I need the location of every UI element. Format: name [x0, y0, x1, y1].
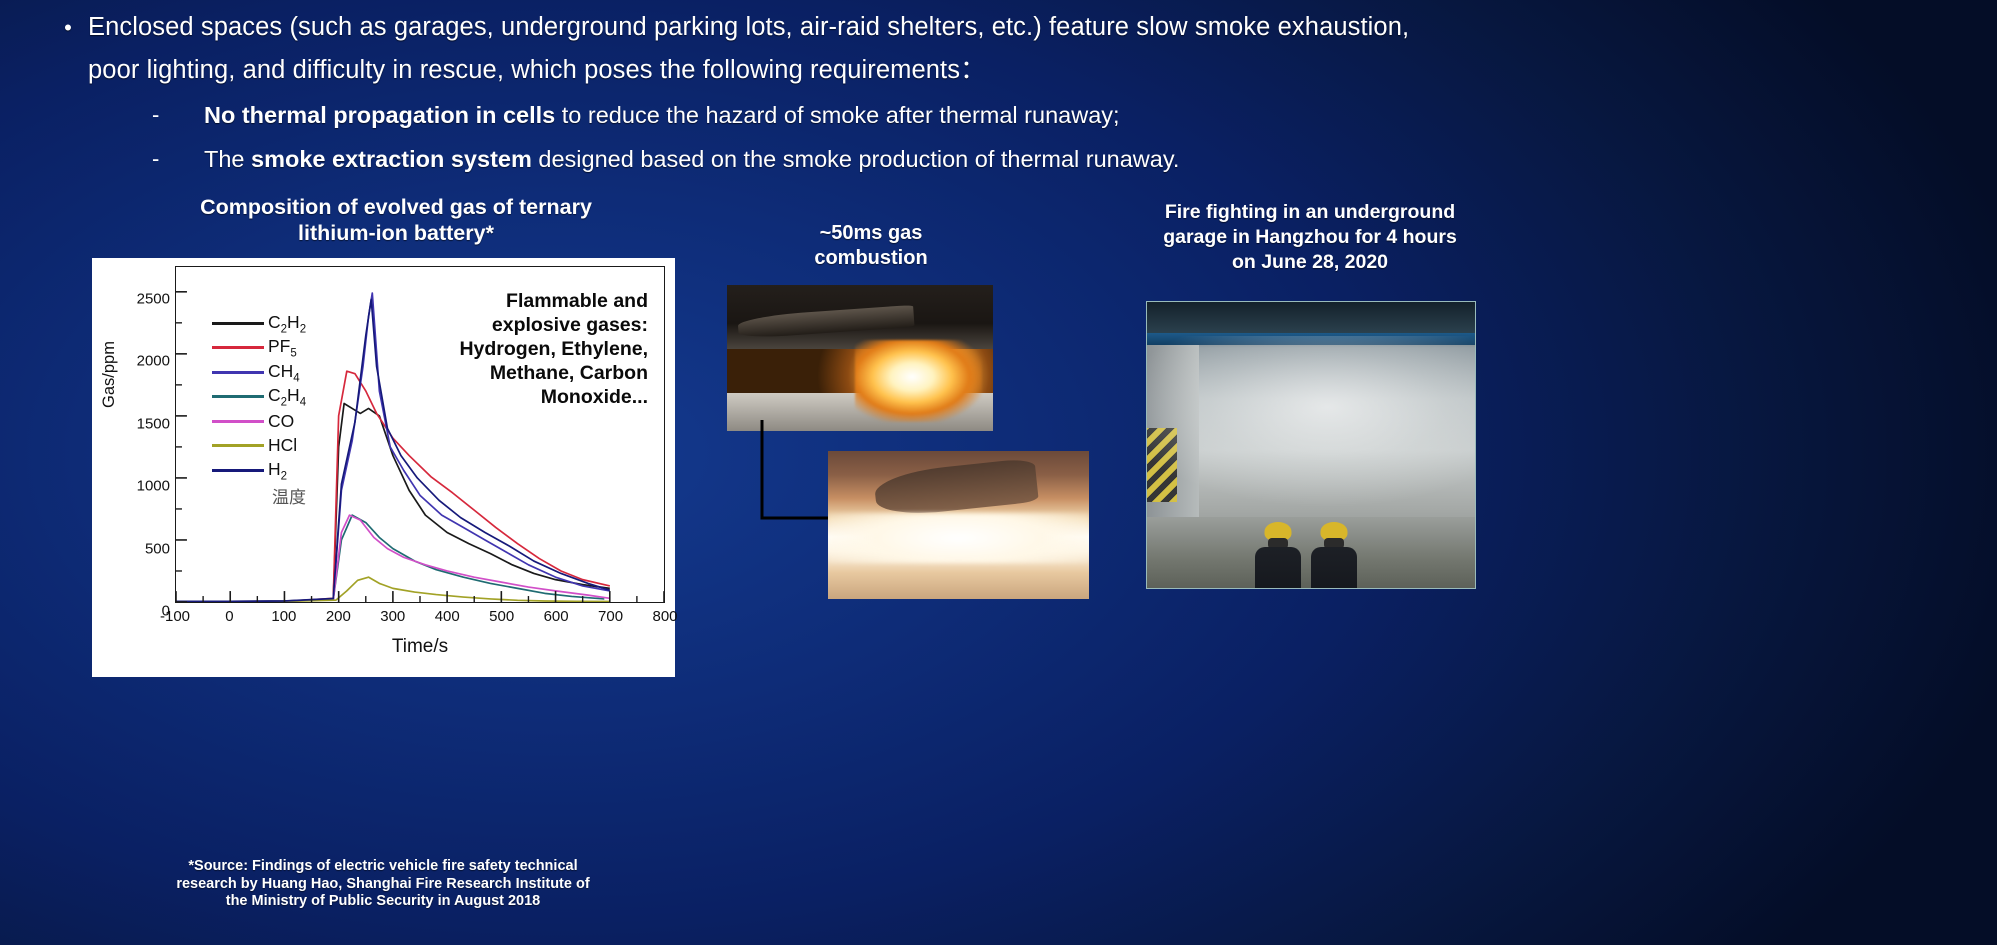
gas-combustion-photo-top — [727, 285, 993, 431]
chart-panel: Gas/ppm 05001000150020002500 C2H2PF5CH4C… — [92, 258, 675, 677]
sub-bullet-2-rest: designed based on the smoke production o… — [532, 146, 1180, 172]
legend-swatch-line — [212, 371, 264, 374]
torso — [1255, 547, 1301, 589]
x-tick-600: 600 — [544, 608, 569, 625]
bullet-list: • Enclosed spaces (such as garages, unde… — [48, 6, 1478, 180]
middle-caption: ~50ms gas combustion — [760, 221, 982, 271]
legend-label: C2H4 — [268, 385, 306, 409]
y-tick-1500: 1500 — [126, 415, 170, 432]
torso — [1311, 547, 1357, 589]
right-caption-line3: on June 28, 2020 — [1140, 250, 1480, 275]
flame-icon — [855, 340, 983, 422]
legend-item-HCl: HCl — [212, 434, 354, 459]
legend-item-CH4: CH4 — [212, 360, 354, 385]
sub-bullet-1-rest: to reduce the hazard of smoke after ther… — [555, 102, 1119, 128]
bullet-main-line2-text: poor lighting, and difficulty in rescue,… — [88, 49, 1478, 92]
bullet-main-line2: poor lighting, and difficulty in rescue,… — [48, 49, 1478, 92]
x-tick-200: 200 — [326, 608, 351, 625]
legend-label: PF5 — [268, 336, 297, 360]
legend-label: H2 — [268, 459, 287, 483]
chart-source-note: *Source: Findings of electric vehicle fi… — [148, 858, 618, 911]
source-line-2: research by Huang Hao, Shanghai Fire Res… — [148, 876, 618, 894]
chart-title-line2: lithium-ion battery* — [150, 220, 642, 246]
x-tick-300: 300 — [380, 608, 405, 625]
smoke-overlay — [1147, 336, 1475, 513]
x-tick-700: 700 — [598, 608, 623, 625]
legend-swatch-line — [212, 346, 264, 349]
sub-bullet-1-text: No thermal propagation in cells to reduc… — [204, 94, 1120, 136]
x-tick-100: 100 — [271, 608, 296, 625]
legend-swatch-line — [212, 420, 264, 423]
legend-item-H2: H2 — [212, 458, 354, 483]
legend-label: CO — [268, 411, 294, 432]
annotation-line-3: Hydrogen, Ethylene, — [402, 337, 648, 361]
right-caption: Fire fighting in an underground garage i… — [1140, 200, 1480, 275]
legend-item-C2H2: C2H2 — [212, 311, 354, 336]
annotation-line-4: Methane, Carbon — [402, 361, 648, 385]
x-tick--100: -100 — [160, 608, 190, 625]
legend-label: C2H2 — [268, 312, 306, 336]
right-caption-line1: Fire fighting in an underground — [1140, 200, 1480, 225]
slide-background: • Enclosed spaces (such as garages, unde… — [0, 0, 1997, 945]
legend-item-C2H4: C2H4 — [212, 385, 354, 410]
flame-front-icon — [828, 513, 1089, 563]
sub-bullet-2-text: The smoke extraction system designed bas… — [204, 138, 1179, 180]
sub-bullet-1-bold: No thermal propagation in cells — [204, 102, 555, 128]
legend-label: CH4 — [268, 361, 300, 385]
legend-label: HCl — [268, 435, 297, 456]
chart-plot-area: C2H2PF5CH4C2H4COHClH2温度 Flammable andexp… — [175, 266, 665, 603]
annotation-line-2: explosive gases: — [402, 313, 648, 337]
middle-caption-line2: combustion — [760, 246, 982, 271]
sub-bullet-2: - The smoke extraction system designed b… — [48, 138, 1478, 180]
y-tick-1000: 1000 — [126, 478, 170, 495]
chart-x-axis-label: Time/s — [175, 636, 665, 658]
source-line-1: *Source: Findings of electric vehicle fi… — [148, 858, 618, 876]
chart-title: Composition of evolved gas of ternary li… — [150, 194, 642, 246]
legend-item-CO: CO — [212, 409, 354, 434]
hangzhou-garage-firefighting-photo — [1146, 301, 1476, 589]
legend-swatch-line — [212, 395, 264, 398]
middle-caption-line1: ~50ms gas — [760, 221, 982, 246]
x-tick-800: 800 — [652, 608, 677, 625]
legend-swatch-line — [212, 444, 264, 447]
source-line-3: the Ministry of Public Security in Augus… — [148, 893, 618, 911]
chart-annotation: Flammable andexplosive gases:Hydrogen, E… — [402, 289, 648, 409]
y-tick-500: 500 — [126, 540, 170, 557]
y-tick-2500: 2500 — [126, 290, 170, 307]
legend-extra-label: 温度 — [272, 483, 354, 508]
sub-dash-icon-1: - — [48, 94, 204, 136]
annotation-line-5: Monoxide... — [402, 385, 648, 409]
bullet-main-line1-text: Enclosed spaces (such as garages, underg… — [88, 6, 1478, 49]
right-caption-line2: garage in Hangzhou for 4 hours — [1140, 225, 1480, 250]
bullet-main-line1: • Enclosed spaces (such as garages, unde… — [48, 6, 1478, 49]
x-tick-400: 400 — [435, 608, 460, 625]
bullet-dot-icon: • — [48, 6, 88, 49]
legend-item-PF5: PF5 — [212, 336, 354, 361]
legend-swatch-line — [212, 469, 264, 472]
x-tick-0: 0 — [225, 608, 233, 625]
chart-title-line1: Composition of evolved gas of ternary — [150, 194, 642, 220]
sub-dash-icon-2: - — [48, 138, 204, 180]
chart-x-tick-labels: -1000100200300400500600700800 — [175, 608, 665, 630]
x-tick-500: 500 — [489, 608, 514, 625]
chart-legend: C2H2PF5CH4C2H4COHClH2温度 — [212, 311, 354, 508]
sub-bullet-2-pre: The — [204, 146, 251, 172]
gas-combustion-photo-bottom — [828, 451, 1089, 599]
sub-bullet-2-bold: smoke extraction system — [251, 146, 532, 172]
sub-bullet-1: - No thermal propagation in cells to red… — [48, 94, 1478, 136]
legend-swatch-line — [212, 322, 264, 325]
chart-y-tick-labels: 05001000150020002500 — [114, 266, 170, 603]
y-tick-2000: 2000 — [126, 353, 170, 370]
annotation-line-1: Flammable and — [402, 289, 648, 313]
